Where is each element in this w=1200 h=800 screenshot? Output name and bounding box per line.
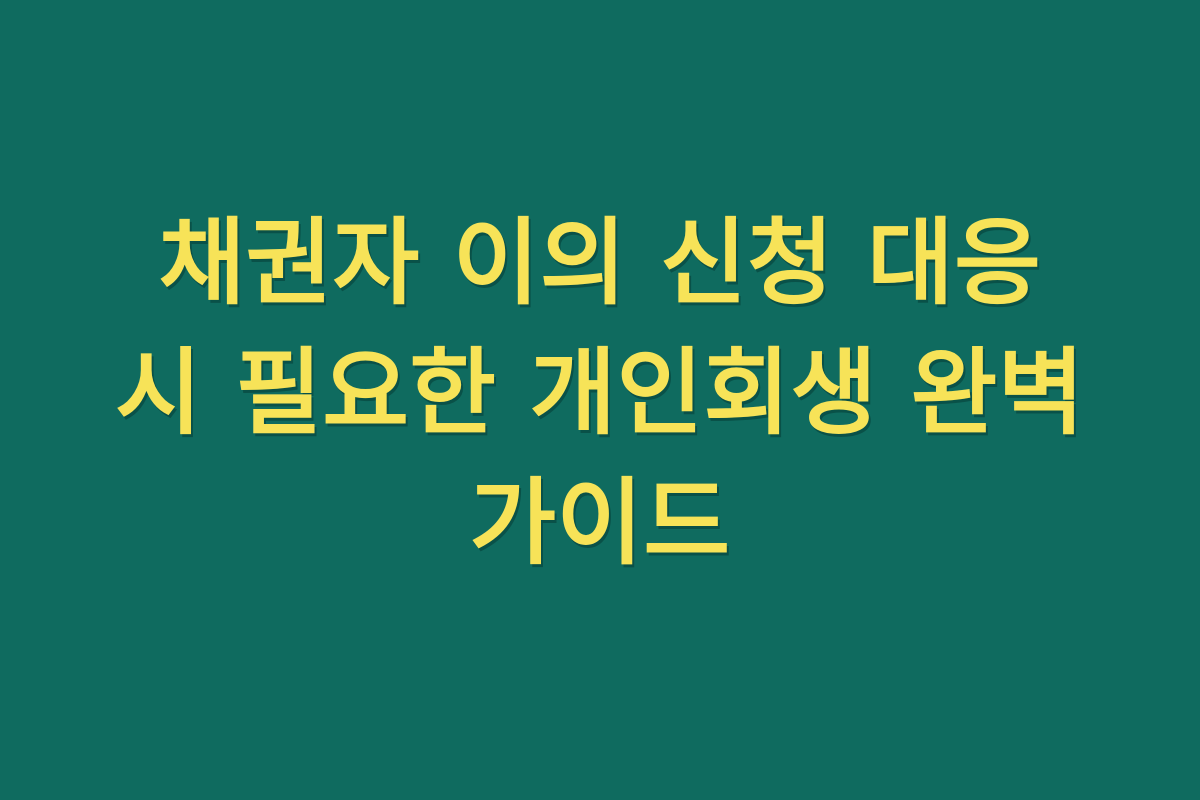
title-line-2: 시 필요한 개인회생 완벽 (115, 329, 1084, 459)
title-line-1: 채권자 이의 신청 대응 (159, 199, 1042, 329)
title-line-3: 가이드 (470, 459, 731, 589)
page-title: 채권자 이의 신청 대응 시 필요한 개인회생 완벽 가이드 (70, 199, 1130, 589)
title-banner: 채권자 이의 신청 대응 시 필요한 개인회생 완벽 가이드 (0, 0, 1200, 800)
